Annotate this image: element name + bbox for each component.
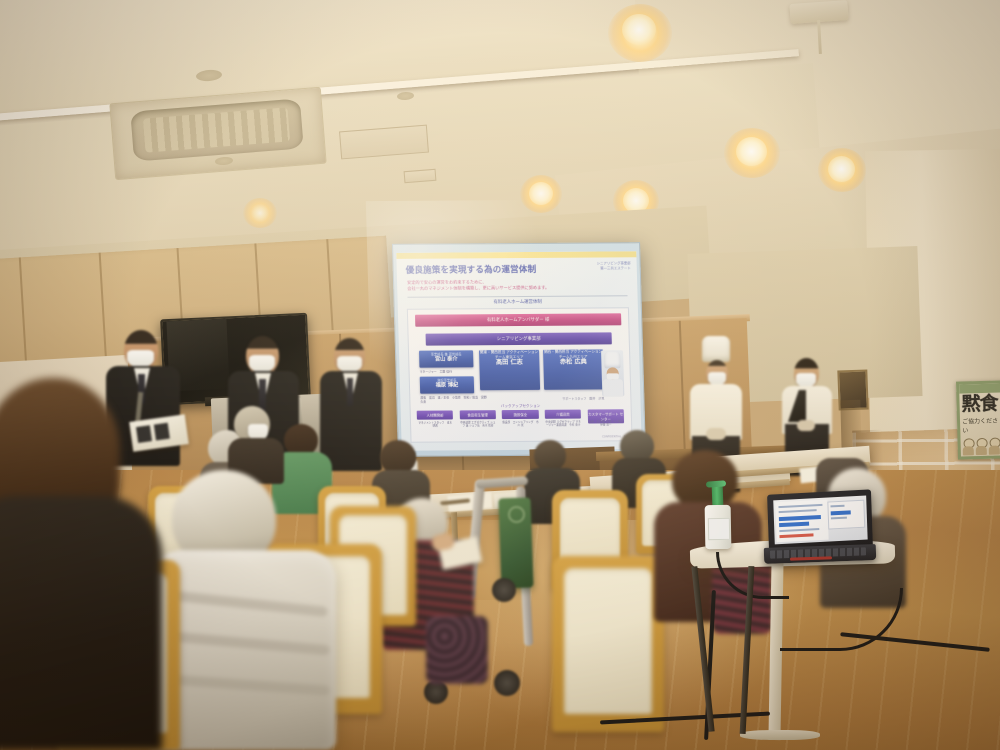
presentation-slide: 優良施策を実現する為の運営体制 シニアリビング事業部 第一三共エステート 安定的… (396, 251, 642, 451)
laptop-screen[interactable] (767, 489, 873, 552)
org-cell-0-caption: マネージャー 工藤 信行 (420, 369, 474, 373)
org-cell-1: 施設事業部長 福原 博紀 (420, 376, 474, 393)
org-chart-row: 事業部長 兼 運営部長 宮山 泰介 マネージャー 工藤 信行 施設事業部長 福原… (419, 349, 620, 398)
sanitizer-label (708, 518, 730, 540)
slide-accent-band (396, 251, 636, 259)
slide-logo-line-2: 第一三共エステート (569, 266, 631, 271)
audience-head (534, 440, 566, 471)
staff-hands (797, 420, 815, 431)
face-mask-icon (249, 355, 275, 372)
chef-hat-icon (702, 336, 730, 362)
meeting-room-photo: 黙食 ご協力ください 優良施策を実現する為の運営体制 シニアリビング事業部 第一… (0, 0, 1000, 750)
slide-lead-text: 安定的で安心の運営をお約束するために、 会社一丸のマネジメント体制を構築し、更に… (407, 278, 625, 292)
necktie (259, 379, 266, 411)
backup-cell-1-sub: 中央調理 エグゼクティブ シェフ 兼 シェフ長 青木 照彦 (460, 421, 497, 428)
org-cell-2: 関東・関西担当 アクティベーション チーム東京エリア 髙田 仁志 (479, 350, 540, 390)
org-cell-3-name: 赤松 広典 (543, 359, 603, 367)
slide-divider (407, 295, 627, 298)
org-cell-1-caption: 課長 渡辺 進 / 主任 小笠原 智和 / 担当 宮野 久恵 (420, 395, 488, 403)
backup-cell-3: 介護品質 (545, 410, 582, 419)
chef-hands (706, 428, 726, 440)
org-cell-3: 関西・関西担当 アクティベーション チーム九州エリア 赤松 広典 (543, 349, 604, 389)
laptop-document-pane (775, 500, 828, 543)
audience-head (380, 440, 416, 474)
av-table-base (740, 730, 820, 740)
chef-jacket (603, 379, 623, 396)
rollator-wheel (494, 670, 520, 696)
poster-illustration (961, 432, 1000, 455)
ceiling-downlight-core (622, 14, 656, 45)
laptop-display (773, 496, 867, 545)
org-backup-row: 人材開発部 マネジメントスタッフ 青木 明希 食品衛生管理 中央調理 エグゼクテ… (417, 409, 626, 440)
slide-section-label: 有料老人ホーム運営体制 (398, 298, 638, 306)
org-cell-1-name: 福原 博紀 (420, 382, 474, 389)
projection-screen: 優良施策を実現する為の運営体制 シニアリビング事業部 第一三共エステート 安定的… (392, 242, 646, 457)
audience-head (672, 450, 738, 510)
face-mask-icon (127, 350, 154, 367)
backup-cell-0-sub: マネジメントスタッフ 青木 明希 (417, 421, 454, 428)
slide-lead-line-2: 会社一丸のマネジメント体制を構築し、更に高いサービス提供に努めます。 (407, 284, 625, 292)
ceiling-downlight-core (529, 182, 553, 205)
mokushoku-poster: 黙食 ご協力ください (956, 380, 1000, 459)
backup-cell-3-sub: 中央調理 エグゼクティブ マネージャー兼品質課 今村 恵子 (545, 421, 582, 428)
chef-portrait-photo (601, 350, 624, 396)
patterned-skirt (426, 616, 488, 684)
rollator-wheel (492, 578, 516, 602)
org-cell-0-name: 宮山 泰介 (419, 356, 473, 363)
org-cell-2-name: 髙田 仁志 (479, 359, 539, 367)
org-cell-3-role: 関西・関西担当 アクティベーション チーム九州エリア (543, 349, 603, 359)
necktie (347, 378, 353, 406)
face-mask-icon (337, 356, 362, 372)
backup-cell-4-sub: CSR エクセレンス リーダー 伊藤 達一 (588, 420, 625, 427)
org-top-bar: 有料老人ホームアンバサダー 様 (415, 313, 621, 326)
slide-logo: シニアリビング事業部 第一三共エステート (569, 261, 631, 271)
backup-cell-2: 施設保全 (502, 410, 539, 419)
org-division-bar: シニアリビング事業部 (426, 332, 612, 345)
backup-cell-0: 人材開発部 (417, 410, 454, 419)
poster-kanji-text: 黙食 (961, 394, 1000, 414)
foreground-dark-coat (0, 496, 162, 750)
slide-title: 優良施策を実現する為の運営体制 (406, 263, 567, 276)
org-cell-0: 事業部長 兼 運営部長 宮山 泰介 (419, 350, 473, 367)
ceiling-downlight-core (828, 156, 855, 182)
org-cell-2-role: 関東・関西担当 アクティベーション チーム東京エリア (479, 350, 539, 360)
org-chart-panel: 有料老人ホームアンバサダー 様 シニアリビング事業部 事業部長 兼 運営部長 宮… (407, 307, 633, 442)
poster-subtitle-text: ご協力ください (962, 415, 1000, 434)
rollator-bag-logo (508, 506, 525, 523)
chef-hat-icon (604, 351, 620, 368)
ceiling-downlight-core (736, 137, 767, 166)
backup-cell-1: 食品衛生管理 (459, 410, 496, 419)
ceiling-downlight (243, 198, 277, 228)
face-mask-icon (796, 373, 816, 387)
laptop-slide-thumbnail (827, 500, 865, 530)
org-support-note: サポートスタッフ 藤井 汐見 (562, 396, 604, 400)
ceiling-vent-slot (404, 169, 437, 183)
audience-head (822, 428, 856, 462)
backup-cell-2-sub: 施設部 エンジニアリング 市川 晃 (502, 421, 539, 428)
